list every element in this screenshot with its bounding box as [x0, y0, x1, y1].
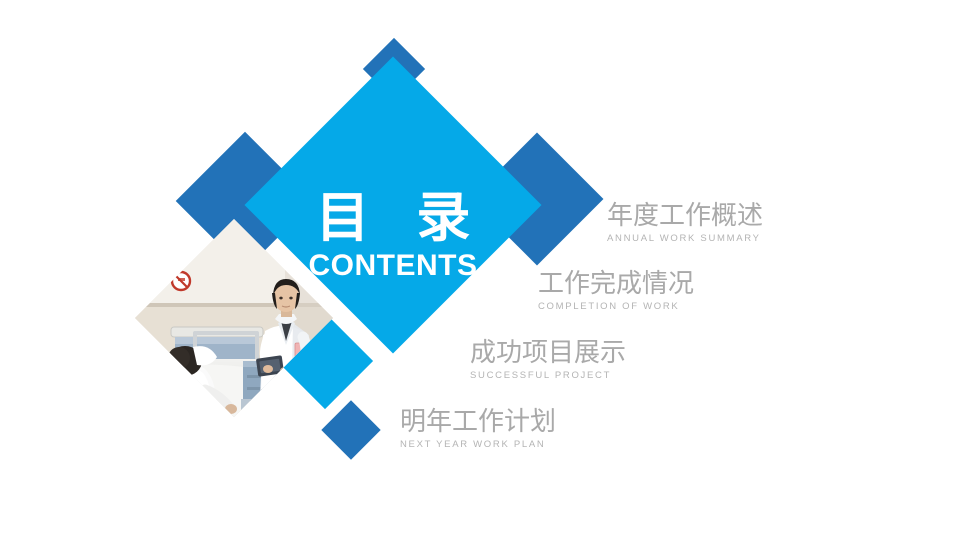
toc-item-successful-project[interactable]: 成功项目展示 SUCCESSFUL PROJECT	[470, 339, 626, 382]
toc-item-completion-of-work[interactable]: 工作完成情况 COMPLETION OF WORK	[538, 270, 694, 313]
toc-item-annual-work-summary[interactable]: 年度工作概述 ANNUAL WORK SUMMARY	[607, 202, 763, 245]
toc-item-label-en: NEXT YEAR WORK PLAN	[400, 439, 556, 451]
toc-item-label-en: ANNUAL WORK SUMMARY	[607, 233, 763, 245]
toc-item-label-cn: 年度工作概述	[607, 202, 763, 231]
toc-item-label-cn: 成功项目展示	[470, 339, 626, 368]
toc-item-label-en: COMPLETION OF WORK	[538, 301, 694, 313]
toc-item-label-en: SUCCESSFUL PROJECT	[470, 370, 626, 382]
contents-slide: 目 录 CONTENTS 年度工作概述 ANNUAL WORK SUMMARY …	[0, 0, 960, 540]
toc-item-label-cn: 工作完成情况	[538, 270, 694, 299]
toc-item-next-year-work-plan[interactable]: 明年工作计划 NEXT YEAR WORK PLAN	[400, 408, 556, 451]
toc-item-label-cn: 明年工作计划	[400, 408, 556, 437]
decorative-diamond-bottom	[321, 400, 380, 459]
